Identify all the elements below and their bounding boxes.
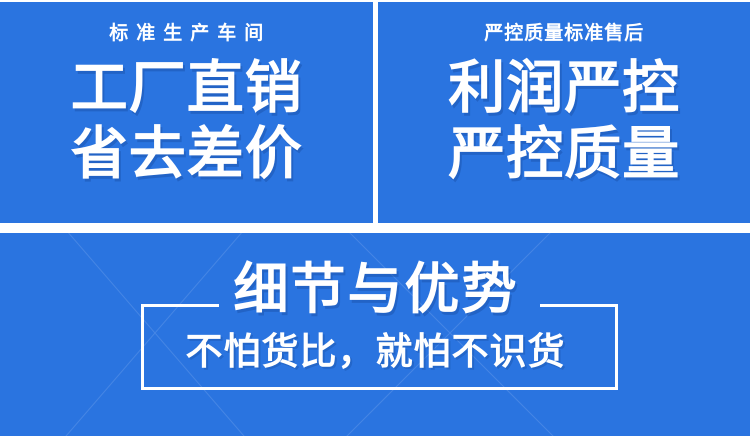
panel-right-headline-line1: 利润严控: [447, 59, 680, 119]
panel-right-headline-line2: 严控质量: [447, 125, 680, 185]
panel-factory-direct: 标准生产车间 工厂直销 省去差价: [0, 2, 373, 223]
panel-right-eyebrow: 严控质量标准售后: [483, 24, 644, 43]
bottom-panel-subtitle: 不怕货比，就怕不识货: [0, 333, 750, 370]
panel-quality-control: 严控质量标准售后 利润严控 严控质量: [378, 2, 750, 223]
panel-quality-control-content: 严控质量标准售后 利润严控 严控质量: [378, 2, 750, 223]
panel-left-eyebrow: 标准生产车间: [101, 24, 271, 43]
bottom-panel-title: 细节与优势: [0, 262, 750, 317]
promo-banner: 标准生产车间 工厂直销 省去差价 严控质量标准售后 利润严控 严控质量: [0, 0, 750, 440]
top-panel-row: 标准生产车间 工厂直销 省去差价 严控质量标准售后 利润严控 严控质量: [0, 2, 750, 223]
panel-factory-direct-content: 标准生产车间 工厂直销 省去差价: [0, 2, 373, 223]
panel-left-headline-line2: 省去差价: [70, 125, 303, 185]
panel-left-headline-line1: 工厂直销: [70, 59, 303, 119]
